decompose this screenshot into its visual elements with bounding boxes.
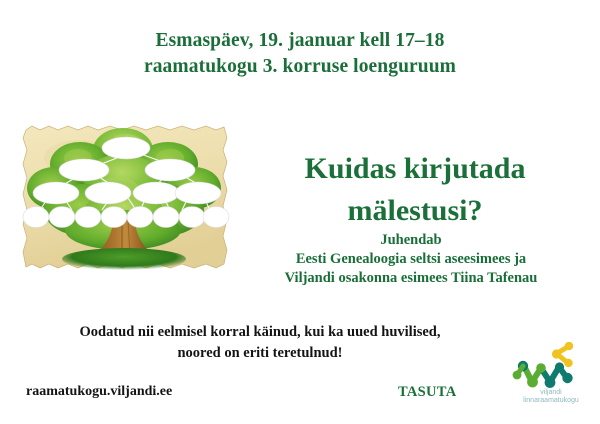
- page-title: Kuidas kirjutada mälestusi?: [240, 148, 590, 232]
- library-logo: viljandi linnaraamatukogu: [512, 342, 590, 404]
- event-datetime: Esmaspäev, 19. jaanuar kell 17–18: [156, 30, 445, 51]
- page-title-line1: Kuidas kirjutada: [305, 152, 526, 185]
- invitation-block: Oodatud nii eelmisel korral käinud, kui …: [0, 322, 520, 364]
- event-header: Esmaspäev, 19. jaanuar kell 17–18 raamat…: [0, 28, 600, 80]
- name-oval: [59, 159, 109, 181]
- name-oval: [127, 207, 153, 228]
- invitation-line1: Oodatud nii eelmisel korral käinud, kui …: [0, 322, 520, 343]
- logo-text-line1: viljandi: [540, 389, 562, 396]
- presenter-title-line2: Viljandi osakonna esimees Tiina Tafenau: [230, 269, 592, 288]
- name-oval: [49, 207, 75, 228]
- name-oval: [85, 182, 131, 204]
- logo-yellow-chain: [552, 342, 573, 367]
- admission-price-badge: TASUTA: [398, 384, 456, 401]
- name-oval: [133, 182, 179, 204]
- library-website-url[interactable]: raamatukogu.viljandi.ee: [26, 384, 172, 400]
- event-location: raamatukogu 3. korruse loenguruum: [0, 54, 600, 80]
- logo-w-mark: [513, 361, 573, 388]
- name-oval: [145, 159, 195, 181]
- name-oval: [153, 207, 179, 228]
- name-oval: [203, 207, 229, 228]
- presenter-block: Juhendab Eesti Genealoogia seltsi aseesi…: [230, 231, 592, 288]
- logo-text-line2: linnaraamatukogu: [523, 397, 579, 404]
- presenter-title-line1: Eesti Genealoogia seltsi aseesimees ja: [230, 250, 592, 269]
- name-oval: [33, 182, 79, 204]
- poster-canvas: Esmaspäev, 19. jaanuar kell 17–18 raamat…: [0, 0, 600, 424]
- name-oval: [23, 207, 49, 228]
- presenter-label: Juhendab: [230, 231, 592, 250]
- family-tree-illustration: [18, 118, 232, 278]
- grass-mound: [62, 248, 186, 270]
- name-oval: [101, 207, 127, 228]
- name-oval: [102, 137, 150, 159]
- invitation-line2: noored on eriti teretulnud!: [0, 343, 520, 364]
- name-oval: [179, 207, 205, 228]
- logo-mark: [513, 342, 574, 388]
- name-oval: [75, 207, 101, 228]
- name-oval: [175, 182, 221, 204]
- page-title-line2: mälestusi?: [240, 190, 590, 232]
